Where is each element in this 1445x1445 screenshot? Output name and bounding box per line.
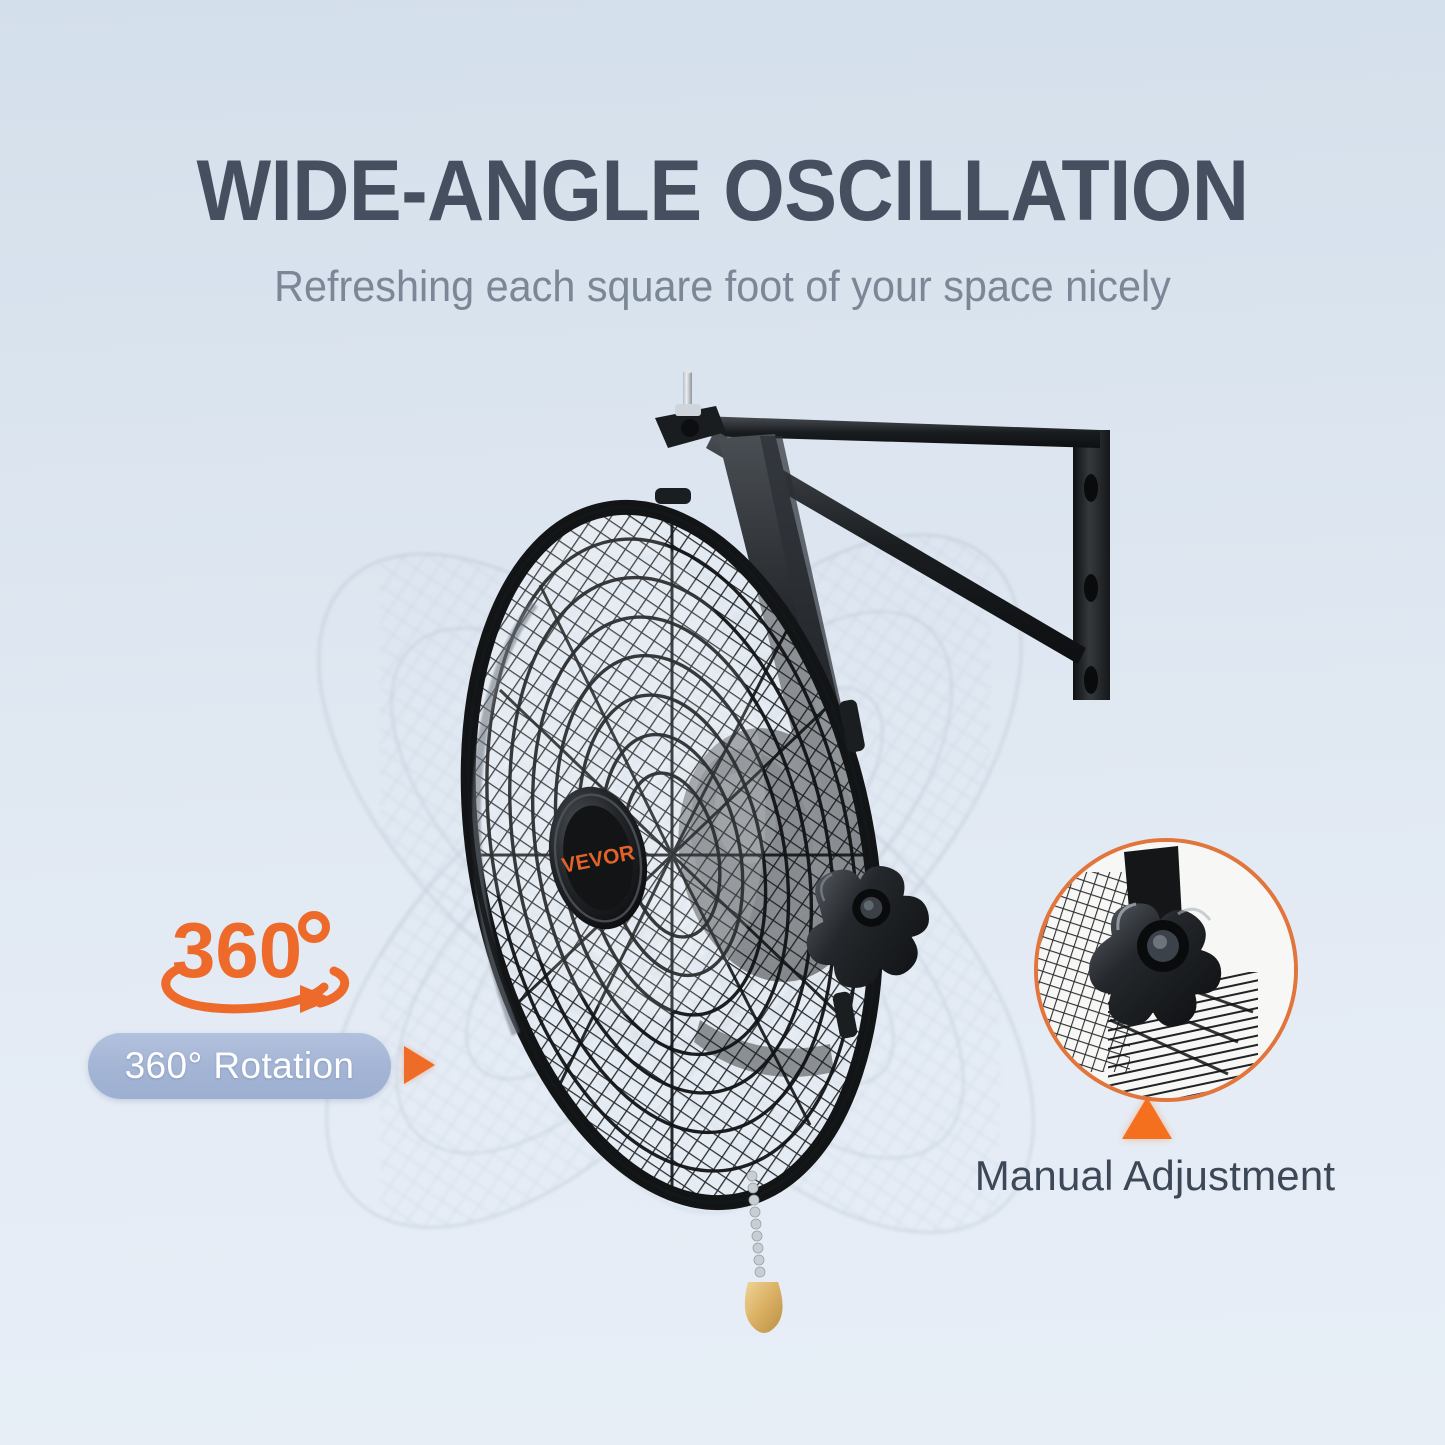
marketing-image: WIDE-ANGLE OSCILLATION Refreshing each s… xyxy=(0,0,1445,1445)
rotation-pointer-arrow-icon xyxy=(404,1046,435,1084)
rotation-badge-label: 360° Rotation xyxy=(125,1045,355,1087)
manual-pointer-triangle-icon xyxy=(1122,1097,1172,1139)
product-photo: VEVOR xyxy=(0,0,1445,1445)
pull-chain-knob xyxy=(745,1282,783,1333)
svg-text:360: 360 xyxy=(172,906,302,994)
rotation-badge[interactable]: 360° Rotation xyxy=(88,1033,391,1099)
manual-adjustment-label: Manual Adjustment xyxy=(960,1152,1350,1200)
knob-detail-circle xyxy=(1034,838,1298,1102)
360-rotation-icon: 360 xyxy=(148,905,368,1025)
